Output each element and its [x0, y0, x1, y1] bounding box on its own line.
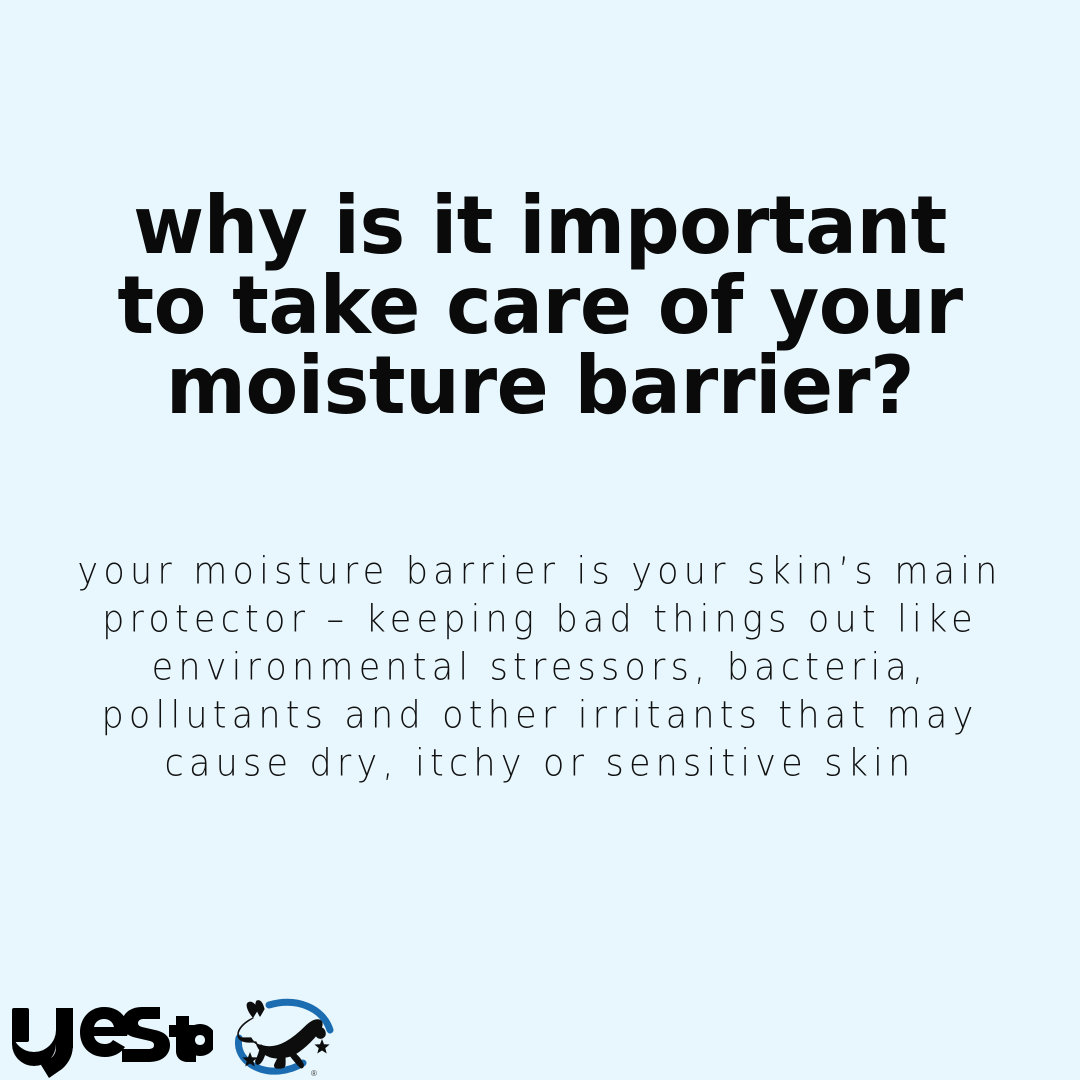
- yesto-wordmark-logo: [8, 1000, 213, 1078]
- page-title: why is it important to take care of your…: [0, 186, 1080, 426]
- body-paragraph: your moisture barrier is your skin’s mai…: [0, 548, 1080, 788]
- brand-logo-lockup: ®: [8, 998, 339, 1078]
- headline-line-1: why is it important: [22, 186, 1059, 266]
- body-line-2: protector – keeping bad things out like: [0, 595, 1080, 646]
- body-line-1: your moisture barrier is your skin’s mai…: [0, 547, 1080, 598]
- headline-line-3: moisture barrier?: [22, 346, 1059, 426]
- registered-trademark-symbol: ®: [311, 1069, 317, 1078]
- body-line-5: cause dry, itchy or sensitive skin: [0, 739, 1080, 790]
- social-post-canvas: why is it important to take care of your…: [0, 0, 1080, 1080]
- leaping-bunny-cruelty-free-icon: ®: [227, 998, 339, 1078]
- headline-line-2: to take care of your: [22, 266, 1059, 346]
- body-line-4: pollutants and other irritants that may: [0, 691, 1080, 742]
- body-line-3: environmental stressors, bacteria,: [0, 643, 1080, 694]
